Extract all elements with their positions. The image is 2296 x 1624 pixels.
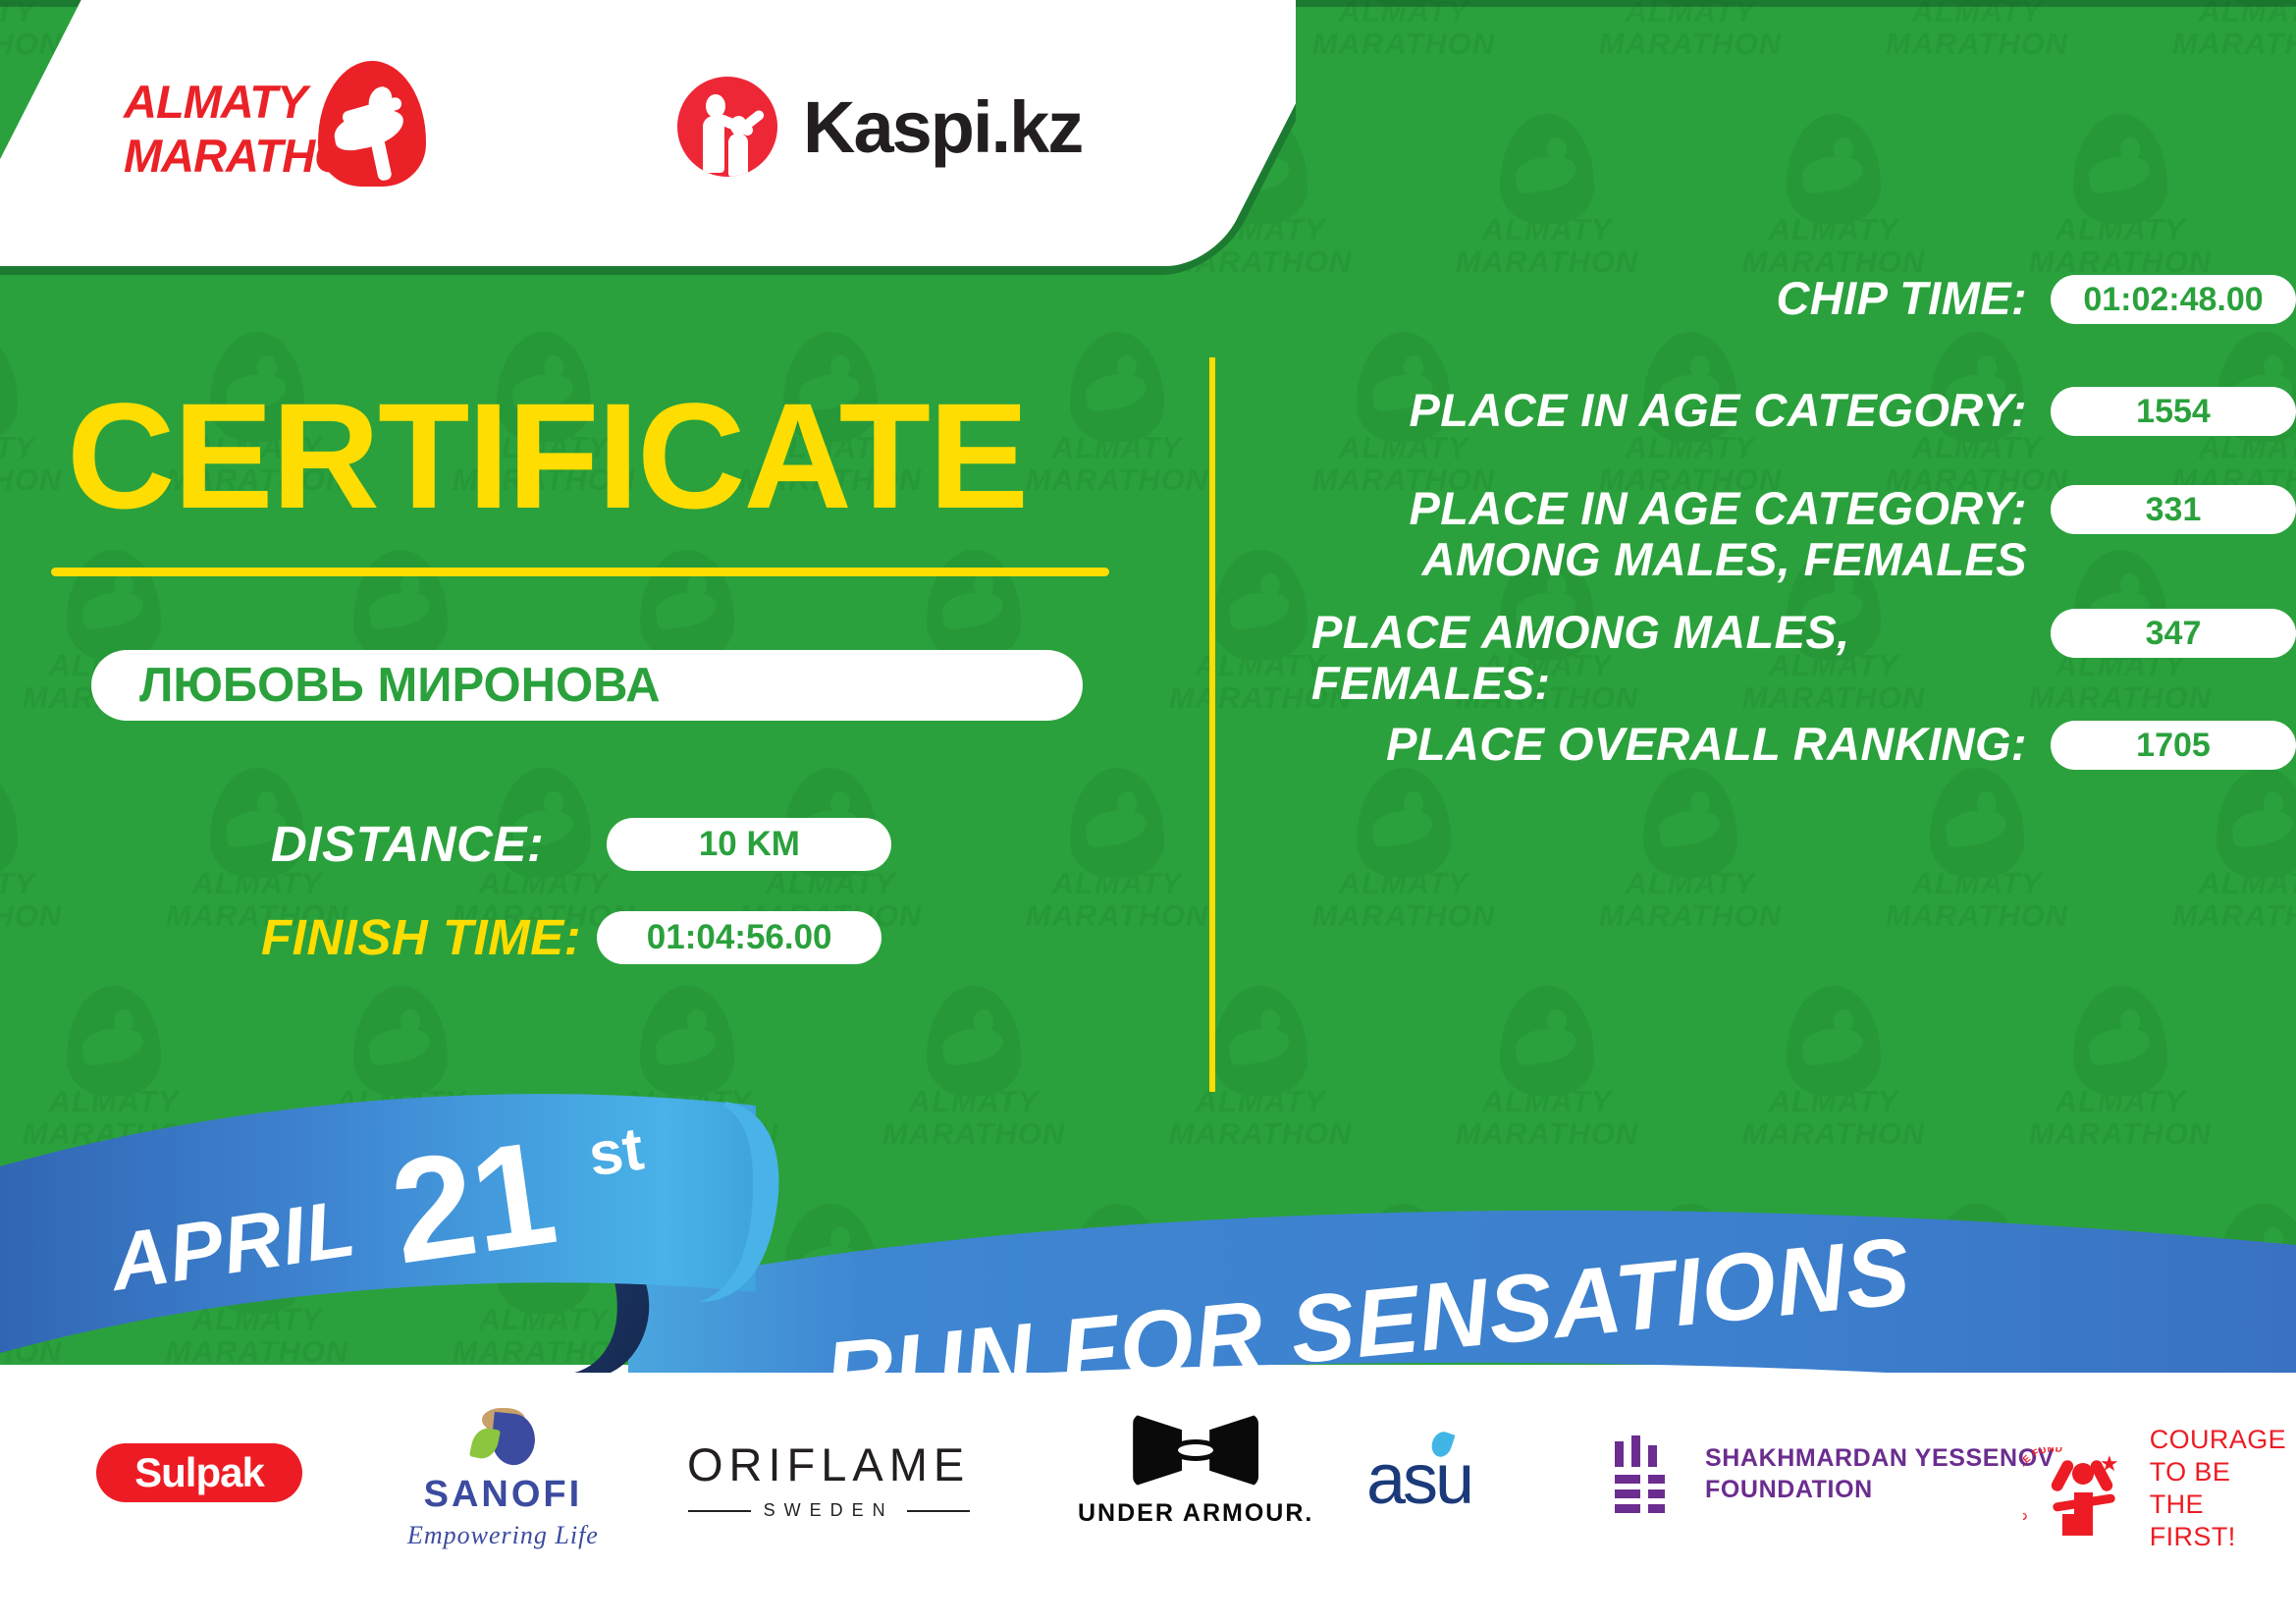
oriflame-wordmark: ORIFLAME	[687, 1437, 970, 1491]
participant-name-field: ЛЮБОВЬ МИРОНОВА	[91, 650, 1083, 721]
finish-time-row: FINISH TIME: 01:04:56.00	[261, 908, 881, 966]
almaty-line: ALMATY	[124, 76, 306, 128]
kaspi-wordmark: Kaspi.kz	[803, 85, 1082, 169]
watermark-drop-icon	[67, 550, 161, 660]
result-label: PLACE AMONG MALES, FEMALES:	[1237, 607, 2051, 708]
watermark-text: ALMATYMARATHON	[989, 868, 1245, 932]
courage-line1: COURAGE	[2150, 1425, 2286, 1454]
watermark-tile: ALMATYMARATHON	[989, 774, 1245, 960]
oriflame-sub: SWEDEN	[688, 1500, 970, 1521]
watermark-tile: ALMATYMARATHON	[1276, 0, 1531, 88]
watermark-text: ALMATYMARATHON	[1849, 868, 2105, 932]
watermark-drop-icon	[0, 332, 18, 442]
finish-time-value: 01:04:56.00	[597, 911, 881, 964]
sponsor-asu[interactable]: asu	[1366, 1439, 1471, 1520]
header-content: ALMATY MARATHON Kaspi.kz	[0, 0, 1296, 279]
almaty-marathon-logo[interactable]: ALMATY MARATHON	[124, 61, 448, 193]
under-armour-wordmark: UNDER ARMOUR.	[1078, 1499, 1313, 1528]
watermark-drop-icon	[2216, 768, 2296, 878]
watermark-tile: ALMATYMARATHON	[1849, 774, 2105, 960]
oriflame-sweden: SWEDEN	[764, 1500, 894, 1521]
watermark-drop-icon	[640, 550, 734, 660]
courage-line3: THE FIRST!	[2150, 1489, 2236, 1551]
asu-wordmark: asu	[1366, 1439, 1471, 1520]
yessenov-icon	[1615, 1435, 1680, 1512]
watermark-text: ALMATYMARATHON	[1563, 868, 1818, 932]
watermark-text: ALMATYMARATHON	[2279, 214, 2296, 278]
watermark-tile: ALMATYMARATHON	[2136, 0, 2296, 88]
courage-line2: TO BE	[2150, 1457, 2231, 1487]
watermark-tile: ALMATYMARATHON	[0, 774, 98, 960]
result-value: 1554	[2051, 387, 2296, 436]
column-divider	[1209, 357, 1215, 1092]
under-armour-icon	[1133, 1414, 1258, 1487]
watermark-tile: ALMATYMARATHON	[1563, 774, 1818, 960]
result-label: PLACE OVERALL RANKING:	[1237, 719, 2051, 770]
ribbon-day: 21	[382, 1108, 563, 1298]
sponsor-under-armour[interactable]: UNDER ARMOUR.	[1078, 1414, 1313, 1528]
distance-value: 10 KM	[607, 818, 891, 871]
watermark-text: ALMATYMARATHON	[1276, 0, 1531, 60]
watermark-drop-icon	[1070, 332, 1164, 442]
result-row-place-age-category: PLACE IN AGE CATEGORY: 1554	[1237, 385, 2296, 436]
sulpak-wordmark: Sulpak	[134, 1449, 264, 1496]
sponsor-yessenov-foundation[interactable]: SHAKHMARDAN YESSENOV FOUNDATION	[1615, 1435, 2055, 1512]
finish-time-label: FINISH TIME:	[261, 908, 581, 966]
watermark-tile: ALMATYMARATHON	[1563, 0, 1818, 88]
watermark-text: ALMATYMARATHON	[1276, 868, 1531, 932]
watermark-text: ALMATYMARATHON	[989, 432, 1245, 496]
yessenov-line2: FOUNDATION	[1705, 1476, 1873, 1503]
oriflame-rule-right	[907, 1510, 970, 1512]
result-row-chip-time: CHIP TIME: 01:02:48.00	[1237, 273, 2296, 324]
watermark-drop-icon	[353, 550, 448, 660]
yessenov-wordmark: SHAKHMARDAN YESSENOV FOUNDATION	[1705, 1442, 2055, 1506]
ribbon-banner: APRIL 21 st RUN FOR SENSATIONS	[0, 1080, 2296, 1404]
result-value: 347	[2051, 609, 2296, 658]
watermark-drop-icon	[2073, 114, 2167, 224]
result-value: 1705	[2051, 721, 2296, 770]
result-row-place-age-category-gender: PLACE IN AGE CATEGORY: AMONG MALES, FEMA…	[1237, 483, 2296, 584]
watermark-drop-icon	[927, 550, 1021, 660]
result-value: 331	[2051, 485, 2296, 534]
result-row-place-overall: PLACE OVERALL RANKING: 1705	[1237, 719, 2296, 770]
watermark-text: ALMATYMARATHON	[1993, 214, 2248, 278]
watermark-text: ALMATYMARATHON	[1563, 0, 1818, 60]
watermark-tile: ALMATYMARATHON	[1849, 0, 2105, 88]
ribbon-ordinal: st	[584, 1114, 647, 1191]
sponsor-oriflame[interactable]: ORIFLAME SWEDEN	[687, 1437, 970, 1521]
certificate-page: ALMATYMARATHONALMATYMARATHONALMATYMARATH…	[0, 0, 2296, 1624]
watermark-text: ALMATYMARATHON	[2136, 0, 2296, 60]
asu-text: asu	[1366, 1440, 1471, 1519]
courage-wordmark: COURAGE TO BE THE FIRST!	[2150, 1424, 2296, 1553]
kaspi-people-circle-icon	[677, 77, 777, 177]
sanofi-icon	[466, 1408, 539, 1467]
result-value: 01:02:48.00	[2051, 275, 2296, 324]
watermark-drop-icon	[1070, 768, 1164, 878]
result-row-place-among-gender: PLACE AMONG MALES, FEMALES: 347	[1237, 607, 2296, 708]
sponsor-sulpak[interactable]: Sulpak	[96, 1443, 302, 1502]
watermark-drop-icon	[1787, 114, 1881, 224]
watermark-tile: ALMATYMARATHON	[1276, 774, 1531, 960]
sponsor-sanofi[interactable]: SANOFI Empowering Life	[407, 1408, 599, 1550]
watermark-drop-icon	[1643, 768, 1737, 878]
sponsor-courage-to-be-the-first[interactable]: CORPORATE FUND ★ COURAGE TO BE THE FIRST…	[2027, 1424, 2296, 1553]
oriflame-rule-left	[688, 1510, 751, 1512]
watermark-text: ALMATYMARATHON	[1419, 214, 1675, 278]
sulpak-icon: Sulpak	[96, 1443, 302, 1502]
title-underline	[51, 568, 1109, 576]
watermark-drop-icon	[1500, 114, 1594, 224]
yessenov-line1: SHAKHMARDAN YESSENOV	[1705, 1444, 2055, 1472]
watermark-tile: ALMATYMARATHON	[2136, 774, 2296, 960]
watermark-text: ALMATYMARATHON	[1849, 0, 2105, 60]
kaspi-logo[interactable]: Kaspi.kz	[677, 77, 1082, 177]
result-label: PLACE IN AGE CATEGORY:	[1237, 385, 2051, 436]
watermark-drop-icon	[1930, 768, 2024, 878]
participant-name: ЛЮБОВЬ МИРОНОВА	[139, 658, 660, 713]
sanofi-wordmark: SANOFI	[424, 1474, 583, 1516]
sanofi-tagline: Empowering Life	[407, 1521, 599, 1550]
courage-runner-icon: CORPORATE FUND ★	[2027, 1441, 2136, 1536]
watermark-text: ALMATYMARATHON	[1706, 214, 1961, 278]
watermark-drop-icon	[1357, 768, 1451, 878]
watermark-tile: ALMATYMARATHON	[989, 338, 1245, 524]
distance-label: DISTANCE:	[271, 815, 544, 873]
watermark-drop-icon	[0, 768, 18, 878]
distance-row: DISTANCE: 10 KM	[271, 815, 891, 873]
page-title: CERTIFICATE	[67, 381, 1027, 531]
watermark-text: ALMATYMARATHON	[2136, 868, 2296, 932]
result-label: PLACE IN AGE CATEGORY: AMONG MALES, FEMA…	[1237, 483, 2051, 584]
sponsor-bar: Sulpak SANOFI Empowering Life ORIFLAME S…	[0, 1373, 2296, 1624]
watermark-text: ALMATYMARATHON	[0, 868, 98, 932]
result-label: CHIP TIME:	[1237, 273, 2051, 324]
